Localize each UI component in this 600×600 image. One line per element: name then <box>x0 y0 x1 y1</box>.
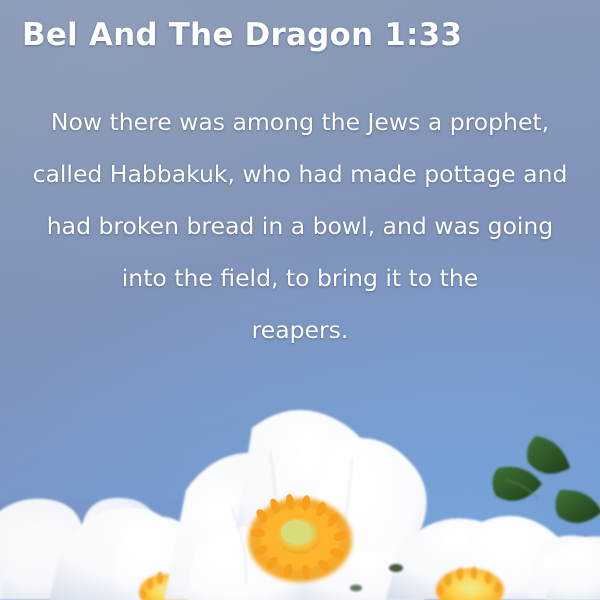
verse-reference-title: Bel And The Dragon 1:33 <box>22 17 462 53</box>
verse-line: called Habbakuk, who had made pottage an… <box>30 148 570 200</box>
verse-image-card: Bel And The Dragon 1:33 Now there was am… <box>0 0 600 600</box>
verse-line: Now there was among the Jews a prophet, <box>30 96 570 148</box>
verse-text-layer: Bel And The Dragon 1:33 Now there was am… <box>0 0 600 600</box>
verse-body-text: Now there was among the Jews a prophet, … <box>30 96 570 356</box>
verse-line: into the field, to bring it to the <box>30 252 570 304</box>
verse-line: had broken bread in a bowl, and was goin… <box>30 200 570 252</box>
verse-line: reapers. <box>30 304 570 356</box>
